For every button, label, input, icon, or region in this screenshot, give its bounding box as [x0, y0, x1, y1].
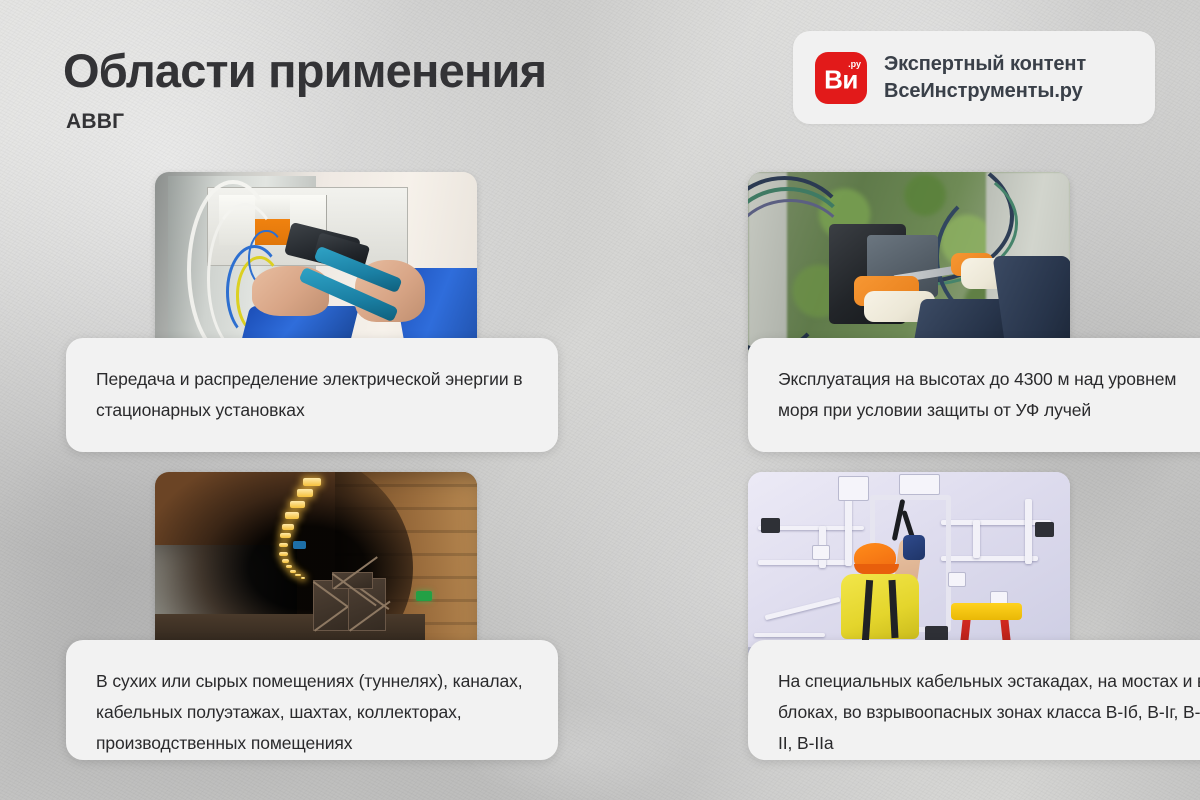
logo-superscript-text: .ру — [848, 60, 861, 69]
feature-card-text: На специальных кабельных эстакадах, на м… — [778, 666, 1200, 759]
feature-card-dry-damp-premises: В сухих или сырых помещениях (туннелях),… — [66, 640, 558, 760]
feature-card-text: Передача и распределение электрической э… — [96, 364, 530, 426]
feature-card-text: В сухих или сырых помещениях (туннелях),… — [96, 666, 530, 759]
page-title: Области применения — [63, 46, 546, 96]
photo-cable-junction-outdoor — [748, 172, 1070, 364]
brand-badge: Ви .ру Экспертный контент ВсеИнструменты… — [793, 31, 1155, 124]
photo-electrician-panel — [155, 172, 477, 364]
brand-badge-text: Экспертный контент ВсеИнструменты.ру — [884, 52, 1086, 103]
slide-root: Области применения АВВГ Ви .ру Экспертны… — [0, 0, 1200, 800]
brand-badge-line-2: ВсеИнструменты.ру — [884, 79, 1086, 103]
feature-card-cable-racks-hazardous-zones: На специальных кабельных эстакадах, на м… — [748, 640, 1200, 760]
page-subtitle: АВВГ — [66, 110, 124, 134]
photo-tunnel — [155, 472, 477, 664]
brand-badge-line-1: Экспертный контент — [884, 52, 1086, 76]
feature-card-text: Эксплуатация на высотах до 4300 м над ур… — [778, 364, 1200, 426]
feature-card-transmission-distribution: Передача и распределение электрической э… — [66, 338, 558, 452]
logo-mark-text: Ви — [815, 66, 867, 92]
feature-card-high-altitude-operation: Эксплуатация на высотах до 4300 м над ур… — [748, 338, 1200, 452]
photo-worker-conduit-wall — [748, 472, 1070, 664]
vseinstrumenty-logo-icon: Ви .ру — [815, 52, 867, 104]
